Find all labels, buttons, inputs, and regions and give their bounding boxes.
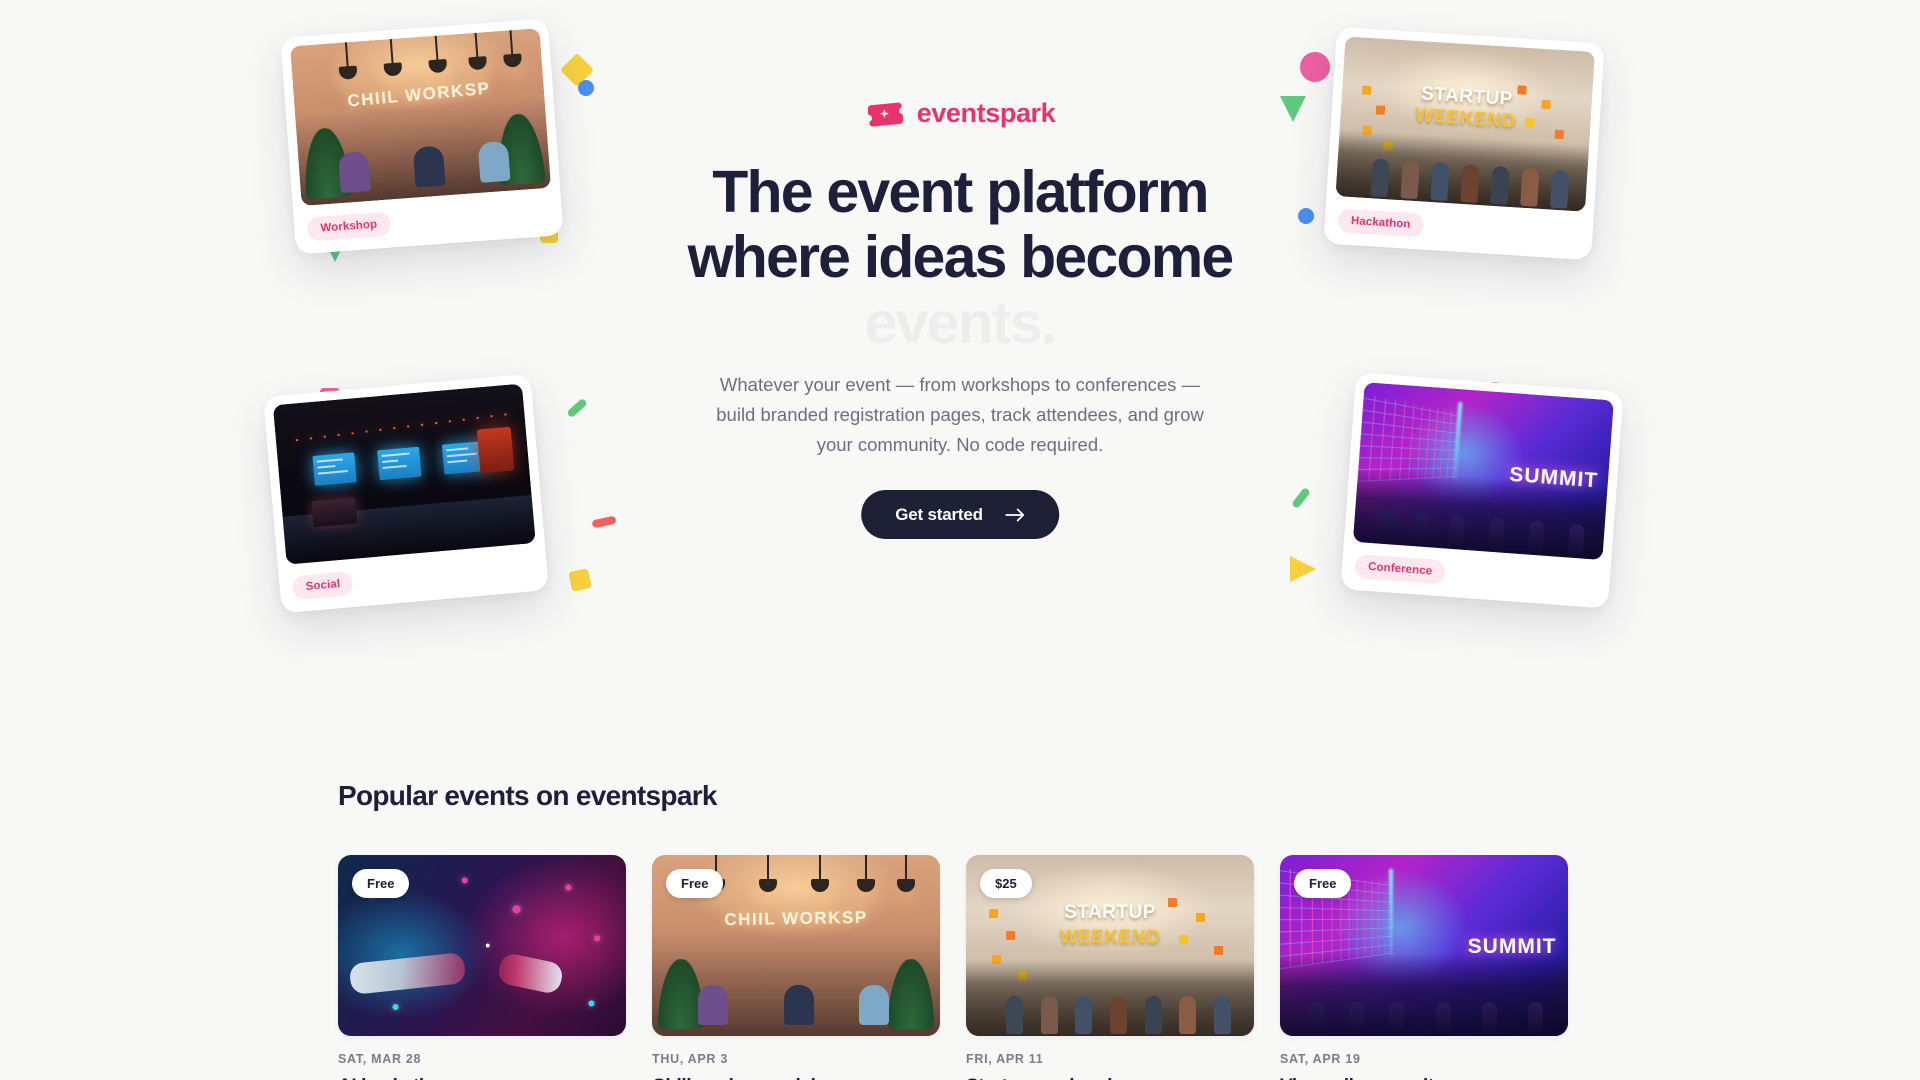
- floating-card-conference[interactable]: SUMMIT Conference: [1340, 372, 1623, 608]
- green-slash: [566, 398, 588, 419]
- yellow-triangle-conf: [1290, 556, 1316, 582]
- price-badge: Free: [666, 869, 723, 898]
- social-scene: [273, 383, 536, 564]
- summit-scene: SUMMIT: [1353, 382, 1614, 560]
- hero-subheadline: Whatever your event — from workshops to …: [700, 370, 1220, 460]
- green-slash-conf: [1291, 487, 1311, 509]
- arrow-right-icon: [1005, 508, 1025, 522]
- event-card[interactable]: Free CHIIL WORKSP THU, APR 3Chill worksp…: [652, 855, 940, 1080]
- event-date: SAT, MAR 28: [338, 1052, 626, 1066]
- event-thumbnail[interactable]: $25 STARTUPWEEKEND: [966, 855, 1254, 1036]
- event-date: FRI, APR 11: [966, 1052, 1254, 1066]
- event-thumbnail[interactable]: Free CHIIL WORKSP: [652, 855, 940, 1036]
- event-card[interactable]: $25 STARTUPWEEKEND FRI, APR 11Startup we…: [966, 855, 1254, 1080]
- brand-lockup[interactable]: eventspark: [0, 100, 1920, 127]
- pink-circle-right: [1300, 52, 1330, 82]
- red-slash: [591, 516, 616, 529]
- floating-card-thumbnail: [273, 383, 536, 564]
- hero-headline: The event platform where ideas become ev…: [0, 160, 1920, 356]
- event-title: AI hackathon: [338, 1075, 626, 1080]
- event-card[interactable]: Free SUMMIT SAT, APR 19Viz media summit: [1280, 855, 1568, 1080]
- event-title: Chill workspace lab: [652, 1075, 940, 1080]
- event-date: THU, APR 3: [652, 1052, 940, 1066]
- blue-circle: [578, 80, 594, 96]
- landing-page: CHIIL WORKSP Workshop: [0, 0, 1920, 1080]
- get-started-button[interactable]: Get started: [861, 490, 1059, 539]
- price-badge: Free: [352, 869, 409, 898]
- event-title: Startup weekend: [966, 1075, 1254, 1080]
- price-badge: Free: [1294, 869, 1351, 898]
- event-title: Viz media summit: [1280, 1075, 1568, 1080]
- ticket-sparkle-icon: [865, 101, 905, 127]
- floating-card-thumbnail: SUMMIT: [1353, 382, 1614, 560]
- popular-events-section: Popular events on eventspark Free SAT, M…: [338, 780, 1582, 1080]
- event-card[interactable]: Free SAT, MAR 28AI hackathon: [338, 855, 626, 1080]
- event-thumbnail[interactable]: Free SUMMIT: [1280, 855, 1568, 1036]
- category-chip: Social: [292, 571, 354, 600]
- event-date: SAT, APR 19: [1280, 1052, 1568, 1066]
- headline-line-2: where ideas become: [688, 224, 1233, 290]
- get-started-label: Get started: [895, 505, 983, 525]
- headline-line-1: The event platform: [712, 159, 1207, 225]
- events-grid: Free SAT, MAR 28AI hackathonFree CHIIL W…: [338, 855, 1582, 1080]
- floating-card-social[interactable]: Social: [263, 374, 549, 614]
- yellow-square-social: [568, 568, 592, 592]
- brand-name: eventspark: [917, 100, 1056, 127]
- headline-line-3-animated: events.: [0, 291, 1920, 356]
- hero-section: CHIIL WORKSP Workshop: [0, 0, 1920, 720]
- section-title: Popular events on eventspark: [338, 780, 1582, 812]
- category-chip: Conference: [1354, 554, 1446, 585]
- event-thumbnail[interactable]: Free: [338, 855, 626, 1036]
- price-badge: $25: [980, 869, 1032, 898]
